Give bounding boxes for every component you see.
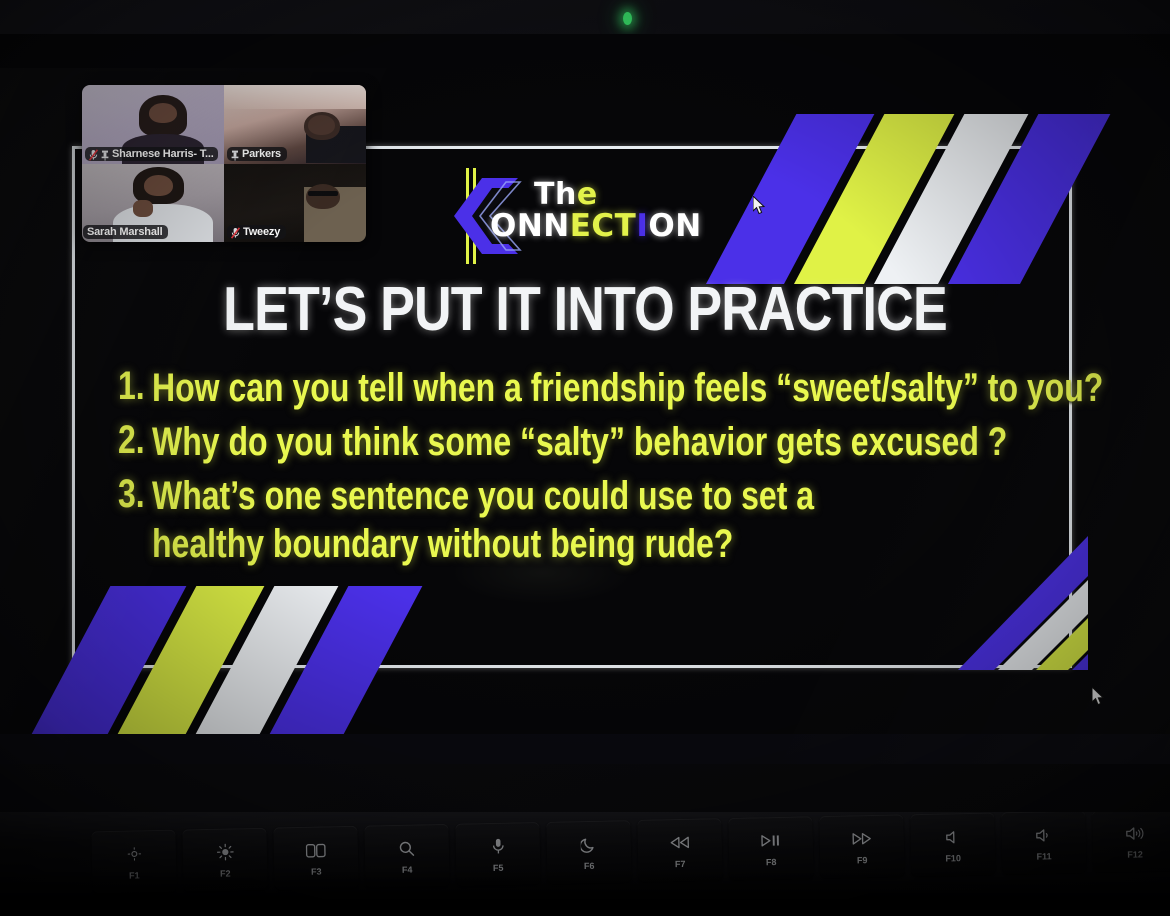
- question-item: 2. Why do you think some “salty” behavio…: [118, 418, 1078, 467]
- pointer-bottom-right: [1092, 687, 1105, 706]
- participant-name-badge: Sharnese Harris- T...: [85, 147, 218, 161]
- question-number: 3.: [118, 472, 145, 517]
- participant-name: Sarah Marshall: [87, 226, 162, 238]
- pointer-on-slide: [753, 196, 766, 215]
- volume-up-icon: [1125, 822, 1144, 844]
- rewind-icon: [670, 831, 690, 853]
- question-number: 2.: [118, 418, 145, 463]
- mission-control-icon: [306, 839, 326, 861]
- brand-ect: ECT: [570, 208, 637, 244]
- key-label: F9: [857, 855, 868, 865]
- keyboard-shadow: [0, 870, 1170, 916]
- screen-reflection-artifact: [452, 542, 632, 604]
- participant-grid: Sharnese Harris- T...: [82, 85, 366, 242]
- key-f10[interactable]: F10: [910, 812, 995, 876]
- mic-muted-icon: [231, 226, 240, 238]
- dictation-mic-icon: [491, 835, 504, 857]
- laptop-screen: The ONNECTION LET’S PUT IT INTO PRACTICE…: [0, 34, 1170, 764]
- camera-active-indicator: [623, 12, 632, 25]
- key-f12[interactable]: F12: [1092, 812, 1170, 872]
- key-f11[interactable]: F11: [1001, 812, 1086, 874]
- question-text: Why do you think some “salty” behavior g…: [152, 418, 1007, 467]
- participant-tile[interactable]: Sharnese Harris- T...: [82, 85, 224, 164]
- brand-the-yellow: e: [577, 177, 598, 212]
- key-label: F10: [945, 853, 961, 863]
- participant-tile[interactable]: Tweezy: [224, 164, 366, 243]
- volume-down-icon: [1035, 824, 1052, 846]
- participant-name: Parkers: [242, 148, 281, 160]
- fast-forward-icon: [851, 828, 871, 850]
- key-label: F7: [675, 858, 686, 868]
- brand-logo: The ONNECTION: [446, 166, 676, 266]
- mic-muted-icon: [89, 148, 98, 160]
- laptop-keyboard-function-row: F1 F2: [0, 812, 1170, 916]
- question-text: How can you tell when a friendship feels…: [152, 364, 1103, 413]
- question-number: 1.: [118, 364, 145, 409]
- search-icon: [399, 837, 415, 859]
- brand-onn: ONN: [490, 208, 570, 244]
- participant-name-badge: Parkers: [227, 147, 287, 161]
- brand-wordmark: The ONNECTION: [534, 180, 684, 243]
- pin-icon: [101, 148, 109, 159]
- participant-name-badge: Sarah Marshall: [83, 225, 168, 239]
- brand-on: ON: [648, 208, 701, 244]
- participant-name: Tweezy: [243, 226, 280, 238]
- key-label: F12: [1127, 849, 1143, 859]
- brightness-down-icon: [126, 843, 141, 865]
- participant-tile[interactable]: Parkers: [224, 85, 366, 164]
- participant-name-badge: Tweezy: [227, 225, 286, 239]
- decor-stripes-top-right: [666, 114, 1066, 284]
- slide-title: LET’S PUT IT INTO PRACTICE: [94, 274, 1077, 345]
- do-not-disturb-moon-icon: [581, 833, 597, 855]
- brand-the-white: Th: [534, 177, 577, 212]
- laptop-photo: The ONNECTION LET’S PUT IT INTO PRACTICE…: [0, 0, 1170, 916]
- brightness-up-icon: [216, 841, 233, 863]
- key-label: F8: [766, 857, 777, 867]
- key-f9[interactable]: F9: [819, 814, 904, 878]
- participant-tile[interactable]: Sarah Marshall: [82, 164, 224, 243]
- participant-name: Sharnese Harris- T...: [112, 148, 214, 160]
- play-pause-icon: [761, 829, 781, 851]
- question-item: 1. How can you tell when a friendship fe…: [118, 364, 1078, 413]
- pin-icon: [231, 148, 239, 159]
- decor-stripes-bottom-left: [0, 586, 400, 734]
- key-label: F11: [1036, 851, 1051, 861]
- mute-icon: [945, 826, 960, 848]
- brand-i: I: [636, 208, 648, 244]
